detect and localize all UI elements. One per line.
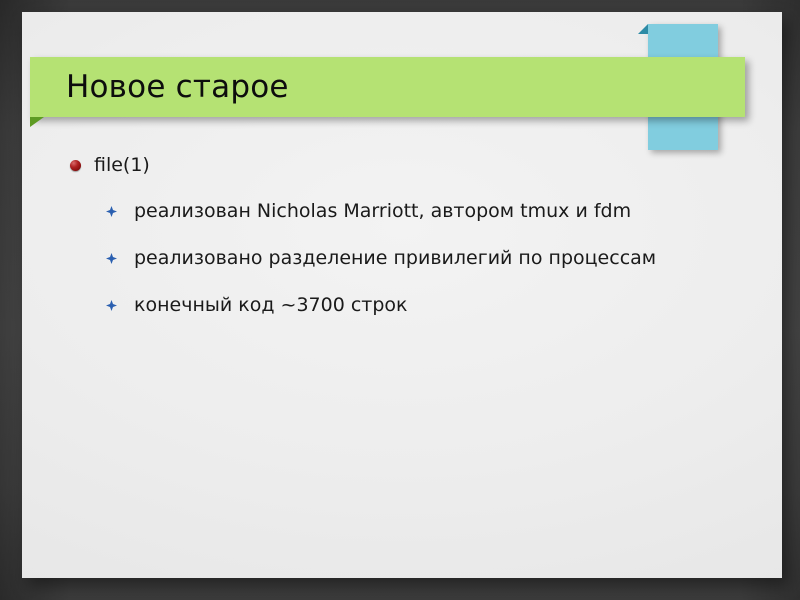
sub-list: реализован Nicholas Marriott, автором tm… xyxy=(44,192,764,324)
title-banner: Новое старое xyxy=(30,57,745,117)
blue-star-bullet-icon xyxy=(106,206,117,217)
list-item: реализовано разделение привилегий по про… xyxy=(44,239,764,277)
red-sphere-bullet-icon xyxy=(70,160,81,171)
list-item-label: реализовано разделение привилегий по про… xyxy=(134,247,656,269)
slide-page: Новое старое file(1) реализован Nicholas… xyxy=(22,12,782,578)
list-item-level1: file(1) xyxy=(44,152,764,178)
blue-star-bullet-icon xyxy=(106,300,117,311)
page-title: Новое старое xyxy=(30,72,289,103)
list-item: реализован Nicholas Marriott, автором tm… xyxy=(44,192,764,230)
list-item: конечный код ~3700 строк xyxy=(44,286,764,324)
list-item-label: конечный код ~3700 строк xyxy=(134,294,408,316)
slide-viewer: Новое старое file(1) реализован Nicholas… xyxy=(0,0,800,600)
decorative-blue-block-fold-icon xyxy=(638,24,648,34)
list-item-level1-label: file(1) xyxy=(94,154,150,176)
title-banner-fold-icon xyxy=(30,117,44,127)
blue-star-bullet-icon xyxy=(106,253,117,264)
slide-body: file(1) реализован Nicholas Marriott, ав… xyxy=(44,152,764,333)
list-item-label: реализован Nicholas Marriott, автором tm… xyxy=(134,200,631,222)
